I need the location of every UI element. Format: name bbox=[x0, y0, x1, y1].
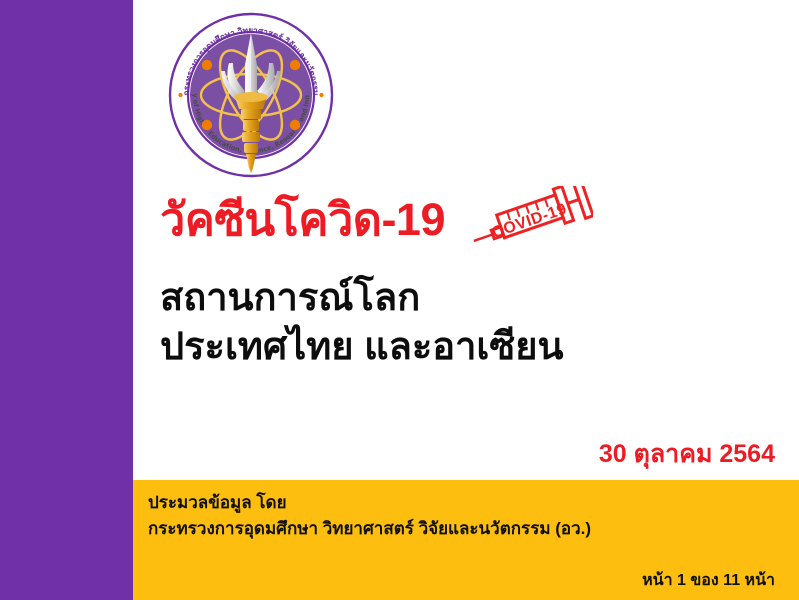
page-title: วัคซีนโควิด-19 bbox=[160, 197, 445, 242]
covid-19-syringe-stamp: COVID-19 bbox=[463, 186, 593, 248]
title-block: วัคซีนโควิด-19 bbox=[160, 186, 780, 371]
footer-credit-line-2: กระทรวงการอุดมศึกษา วิทยาศาสตร์ วิจัยและ… bbox=[148, 516, 591, 542]
subtitle-line-2: ประเทศไทย และอาเซียน bbox=[160, 323, 780, 372]
footer-credit-line-1: ประมวลข้อมูล โดย bbox=[148, 490, 591, 516]
report-date: 30 ตุลาคม 2564 bbox=[599, 434, 775, 474]
ministry-logo: กระทรวงการอุดมศึกษา วิทยาศาสตร์ วิจัยและ… bbox=[167, 11, 335, 179]
presentation-slide: กระทรวงการอุดมศึกษา วิทยาศาสตร์ วิจัยและ… bbox=[0, 0, 799, 600]
left-purple-band bbox=[0, 0, 133, 600]
page-indicator: หน้า 1 ของ 11 หน้า bbox=[642, 568, 775, 593]
footer-credit: ประมวลข้อมูล โดย กระทรวงการอุดมศึกษา วิท… bbox=[148, 490, 591, 541]
subtitle-line-1: สถานการณ์โลก bbox=[160, 274, 780, 323]
covid-19-stamp-label: COVID-19 bbox=[490, 201, 569, 242]
